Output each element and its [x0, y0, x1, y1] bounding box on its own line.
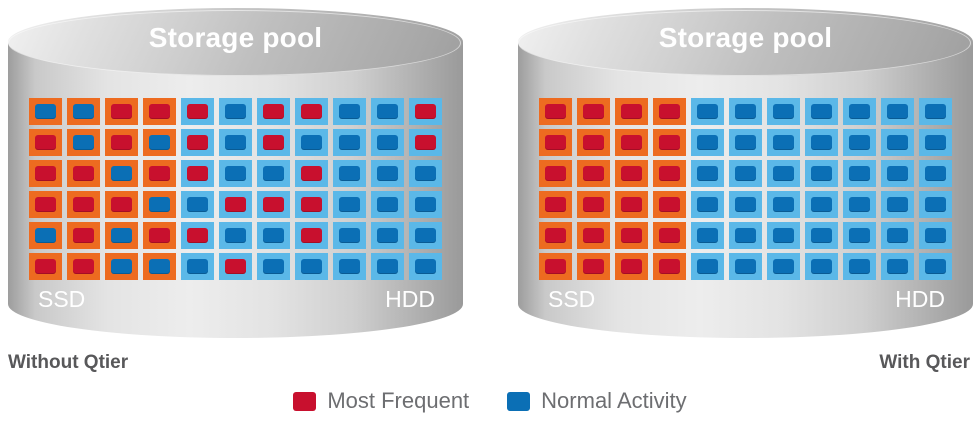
grid-cell-ssd	[653, 98, 686, 125]
grid-cell-hdd	[881, 129, 914, 156]
grid-cell-hdd	[767, 160, 800, 187]
caption-with-qtier: With Qtier	[879, 352, 970, 374]
grid-cell-hdd	[181, 98, 214, 125]
grid-cell-hdd	[219, 98, 252, 125]
data-block-hot	[35, 135, 56, 150]
data-block-hot	[583, 166, 604, 181]
data-block-warm	[849, 259, 870, 274]
caption-without-qtier: Without Qtier	[8, 352, 128, 374]
data-block-warm	[301, 135, 322, 150]
grid-cell-hdd	[919, 160, 952, 187]
tier-label-ssd: SSD	[548, 286, 595, 313]
data-block-warm	[339, 259, 360, 274]
data-block-hot	[659, 259, 680, 274]
data-block-warm	[773, 166, 794, 181]
data-block-warm	[887, 166, 908, 181]
grid-cell-hdd	[919, 129, 952, 156]
grid-cell-ssd	[539, 222, 572, 249]
grid-cell-hdd	[919, 222, 952, 249]
tier-label-hdd: HDD	[895, 286, 945, 313]
grid-cell-hdd	[219, 253, 252, 280]
grid-cell-ssd	[105, 222, 138, 249]
grid-cell-hdd	[333, 160, 366, 187]
grid-cell-hdd	[843, 98, 876, 125]
grid-cell-ssd	[105, 253, 138, 280]
data-block-warm	[773, 104, 794, 119]
data-block-warm	[849, 135, 870, 150]
grid-cell-hdd	[767, 98, 800, 125]
grid-cell-hdd	[219, 191, 252, 218]
data-block-warm	[149, 197, 170, 212]
grid-cell-hdd	[409, 129, 442, 156]
data-block-warm	[887, 228, 908, 243]
grid-cell-hdd	[691, 129, 724, 156]
data-block-warm	[773, 228, 794, 243]
data-block-hot	[545, 104, 566, 119]
block-grid-without-qtier	[29, 98, 442, 280]
data-block-warm	[377, 135, 398, 150]
grid-cell-hdd	[181, 129, 214, 156]
data-block-warm	[35, 228, 56, 243]
grid-cell-ssd	[539, 160, 572, 187]
data-block-warm	[697, 259, 718, 274]
grid-cell-hdd	[691, 222, 724, 249]
data-block-warm	[339, 166, 360, 181]
data-block-warm	[811, 259, 832, 274]
grid-cell-hdd	[295, 98, 328, 125]
data-block-hot	[415, 135, 436, 150]
data-block-warm	[849, 228, 870, 243]
grid-cell-ssd	[577, 160, 610, 187]
grid-cell-hdd	[691, 191, 724, 218]
grid-cell-ssd	[615, 98, 648, 125]
grid-cell-hdd	[729, 98, 762, 125]
data-block-warm	[73, 104, 94, 119]
grid-cell-hdd	[805, 129, 838, 156]
grid-cell-ssd	[29, 160, 62, 187]
grid-cell-hdd	[805, 191, 838, 218]
grid-cell-ssd	[105, 129, 138, 156]
grid-cell-ssd	[615, 129, 648, 156]
data-block-hot	[149, 228, 170, 243]
grid-cell-hdd	[219, 160, 252, 187]
grid-cell-ssd	[143, 129, 176, 156]
grid-cell-hdd	[805, 160, 838, 187]
data-block-warm	[925, 135, 946, 150]
grid-cell-hdd	[881, 253, 914, 280]
grid-cell-hdd	[767, 253, 800, 280]
data-block-hot	[621, 135, 642, 150]
data-block-warm	[811, 197, 832, 212]
storage-pool-without-qtier: Storage pool SSD HDD	[8, 8, 463, 338]
grid-cell-ssd	[653, 160, 686, 187]
grid-cell-ssd	[577, 222, 610, 249]
data-block-warm	[811, 135, 832, 150]
grid-cell-ssd	[29, 222, 62, 249]
grid-cell-hdd	[767, 222, 800, 249]
data-block-warm	[415, 197, 436, 212]
data-block-hot	[187, 166, 208, 181]
grid-cell-hdd	[881, 222, 914, 249]
data-block-warm	[887, 259, 908, 274]
pool-title: Storage pool	[8, 22, 463, 54]
data-block-warm	[773, 135, 794, 150]
legend: Most FrequentNormal Activity	[0, 388, 980, 414]
tier-label-hdd: HDD	[385, 286, 435, 313]
data-block-warm	[339, 228, 360, 243]
grid-cell-ssd	[653, 191, 686, 218]
grid-cell-ssd	[577, 191, 610, 218]
grid-cell-ssd	[539, 191, 572, 218]
data-block-hot	[187, 228, 208, 243]
grid-cell-hdd	[219, 129, 252, 156]
grid-cell-hdd	[333, 98, 366, 125]
data-block-warm	[149, 259, 170, 274]
grid-cell-ssd	[29, 98, 62, 125]
grid-cell-hdd	[371, 129, 404, 156]
data-block-warm	[377, 259, 398, 274]
legend-swatch-hot-icon	[293, 392, 316, 411]
grid-cell-hdd	[729, 253, 762, 280]
data-block-hot	[545, 228, 566, 243]
data-block-warm	[149, 135, 170, 150]
grid-cell-hdd	[881, 160, 914, 187]
grid-cell-hdd	[919, 191, 952, 218]
grid-cell-hdd	[881, 191, 914, 218]
legend-item-warm: Normal Activity	[507, 388, 686, 414]
data-block-hot	[73, 259, 94, 274]
data-block-hot	[301, 104, 322, 119]
grid-cell-hdd	[371, 253, 404, 280]
grid-cell-ssd	[67, 253, 100, 280]
data-block-warm	[377, 104, 398, 119]
data-block-hot	[225, 197, 246, 212]
grid-cell-hdd	[843, 253, 876, 280]
data-block-warm	[773, 259, 794, 274]
data-block-hot	[415, 104, 436, 119]
data-block-warm	[697, 135, 718, 150]
grid-cell-hdd	[805, 222, 838, 249]
grid-cell-hdd	[691, 160, 724, 187]
data-block-warm	[339, 135, 360, 150]
data-block-hot	[583, 135, 604, 150]
data-block-hot	[111, 135, 132, 150]
grid-cell-hdd	[181, 253, 214, 280]
grid-cell-ssd	[143, 98, 176, 125]
data-block-hot	[301, 166, 322, 181]
data-block-warm	[225, 166, 246, 181]
grid-cell-ssd	[29, 253, 62, 280]
grid-cell-hdd	[409, 98, 442, 125]
grid-cell-hdd	[843, 191, 876, 218]
grid-cell-ssd	[67, 222, 100, 249]
grid-cell-ssd	[615, 191, 648, 218]
data-block-hot	[659, 104, 680, 119]
data-block-warm	[225, 104, 246, 119]
data-block-warm	[925, 197, 946, 212]
grid-cell-ssd	[105, 160, 138, 187]
data-block-hot	[621, 228, 642, 243]
data-block-warm	[377, 228, 398, 243]
grid-cell-hdd	[181, 160, 214, 187]
grid-cell-ssd	[143, 253, 176, 280]
grid-cell-hdd	[257, 160, 290, 187]
storage-pool-with-qtier: Storage pool SSD HDD	[518, 8, 973, 338]
legend-item-hot: Most Frequent	[293, 388, 469, 414]
grid-cell-ssd	[539, 98, 572, 125]
data-block-warm	[849, 197, 870, 212]
data-block-warm	[415, 259, 436, 274]
grid-cell-hdd	[219, 222, 252, 249]
grid-cell-hdd	[371, 191, 404, 218]
data-block-warm	[887, 104, 908, 119]
grid-cell-hdd	[805, 98, 838, 125]
grid-cell-hdd	[371, 222, 404, 249]
data-block-warm	[263, 228, 284, 243]
grid-cell-hdd	[257, 191, 290, 218]
data-block-hot	[545, 197, 566, 212]
data-block-warm	[35, 104, 56, 119]
grid-cell-hdd	[767, 191, 800, 218]
grid-cell-hdd	[295, 253, 328, 280]
grid-cell-ssd	[615, 160, 648, 187]
grid-cell-hdd	[881, 98, 914, 125]
grid-cell-ssd	[143, 160, 176, 187]
grid-cell-hdd	[691, 253, 724, 280]
grid-cell-hdd	[729, 222, 762, 249]
data-block-warm	[735, 166, 756, 181]
data-block-warm	[225, 135, 246, 150]
grid-cell-hdd	[333, 129, 366, 156]
data-block-warm	[301, 259, 322, 274]
grid-cell-ssd	[29, 129, 62, 156]
legend-label: Normal Activity	[541, 388, 686, 414]
data-block-hot	[659, 228, 680, 243]
data-block-hot	[621, 104, 642, 119]
data-block-hot	[73, 166, 94, 181]
data-block-warm	[925, 166, 946, 181]
data-block-warm	[187, 197, 208, 212]
grid-cell-hdd	[409, 191, 442, 218]
grid-cell-hdd	[843, 160, 876, 187]
data-block-warm	[849, 166, 870, 181]
data-block-warm	[811, 104, 832, 119]
data-block-hot	[545, 135, 566, 150]
grid-cell-ssd	[143, 222, 176, 249]
data-block-warm	[697, 228, 718, 243]
grid-cell-hdd	[257, 253, 290, 280]
data-block-warm	[111, 166, 132, 181]
data-block-warm	[925, 104, 946, 119]
data-block-warm	[415, 228, 436, 243]
grid-cell-hdd	[691, 98, 724, 125]
grid-cell-hdd	[295, 160, 328, 187]
data-block-warm	[339, 197, 360, 212]
grid-cell-hdd	[257, 98, 290, 125]
grid-cell-hdd	[919, 98, 952, 125]
data-block-warm	[697, 104, 718, 119]
data-block-hot	[621, 259, 642, 274]
data-block-hot	[301, 197, 322, 212]
grid-cell-ssd	[615, 253, 648, 280]
data-block-hot	[149, 104, 170, 119]
grid-cell-ssd	[577, 98, 610, 125]
data-block-hot	[659, 166, 680, 181]
grid-cell-hdd	[729, 129, 762, 156]
data-block-warm	[377, 166, 398, 181]
grid-cell-ssd	[105, 98, 138, 125]
grid-cell-ssd	[143, 191, 176, 218]
pool-title: Storage pool	[518, 22, 973, 54]
grid-cell-hdd	[371, 160, 404, 187]
data-block-warm	[415, 166, 436, 181]
grid-cell-hdd	[409, 253, 442, 280]
grid-cell-ssd	[653, 129, 686, 156]
grid-cell-hdd	[371, 98, 404, 125]
data-block-hot	[621, 197, 642, 212]
grid-cell-ssd	[67, 129, 100, 156]
grid-cell-hdd	[333, 191, 366, 218]
data-block-hot	[301, 228, 322, 243]
grid-cell-hdd	[767, 129, 800, 156]
grid-cell-hdd	[181, 191, 214, 218]
grid-cell-hdd	[409, 222, 442, 249]
data-block-hot	[583, 259, 604, 274]
data-block-warm	[925, 259, 946, 274]
grid-cell-hdd	[333, 222, 366, 249]
data-block-warm	[339, 104, 360, 119]
grid-cell-hdd	[843, 222, 876, 249]
data-block-hot	[545, 259, 566, 274]
data-block-warm	[735, 135, 756, 150]
grid-cell-hdd	[409, 160, 442, 187]
diagram-canvas: Storage pool SSD HDD Without Qtier Stora…	[0, 0, 980, 428]
grid-cell-ssd	[67, 191, 100, 218]
data-block-warm	[811, 228, 832, 243]
grid-cell-hdd	[295, 191, 328, 218]
data-block-hot	[263, 197, 284, 212]
data-block-hot	[263, 135, 284, 150]
data-block-warm	[735, 197, 756, 212]
data-block-hot	[73, 197, 94, 212]
data-block-hot	[659, 135, 680, 150]
grid-cell-ssd	[653, 222, 686, 249]
grid-cell-hdd	[257, 222, 290, 249]
data-block-hot	[187, 104, 208, 119]
data-block-hot	[583, 197, 604, 212]
data-block-hot	[583, 228, 604, 243]
data-block-warm	[697, 166, 718, 181]
grid-cell-ssd	[577, 129, 610, 156]
data-block-warm	[887, 135, 908, 150]
legend-swatch-warm-icon	[507, 392, 530, 411]
data-block-warm	[263, 259, 284, 274]
data-block-hot	[187, 135, 208, 150]
data-block-warm	[887, 197, 908, 212]
grid-cell-hdd	[919, 253, 952, 280]
tier-label-ssd: SSD	[38, 286, 85, 313]
grid-cell-ssd	[105, 191, 138, 218]
data-block-warm	[263, 166, 284, 181]
grid-cell-hdd	[843, 129, 876, 156]
data-block-hot	[545, 166, 566, 181]
grid-cell-hdd	[729, 160, 762, 187]
data-block-hot	[149, 166, 170, 181]
grid-cell-hdd	[333, 253, 366, 280]
data-block-hot	[583, 104, 604, 119]
data-block-warm	[773, 197, 794, 212]
grid-cell-hdd	[295, 129, 328, 156]
grid-cell-ssd	[67, 98, 100, 125]
data-block-hot	[659, 197, 680, 212]
data-block-warm	[811, 166, 832, 181]
data-block-hot	[73, 228, 94, 243]
block-grid-with-qtier	[539, 98, 952, 280]
grid-cell-ssd	[615, 222, 648, 249]
grid-cell-ssd	[67, 160, 100, 187]
data-block-hot	[111, 104, 132, 119]
data-block-warm	[377, 197, 398, 212]
data-block-hot	[35, 197, 56, 212]
data-block-warm	[849, 104, 870, 119]
data-block-warm	[925, 228, 946, 243]
data-block-hot	[35, 259, 56, 274]
data-block-warm	[187, 259, 208, 274]
grid-cell-hdd	[295, 222, 328, 249]
data-block-warm	[735, 259, 756, 274]
grid-cell-hdd	[181, 222, 214, 249]
grid-cell-ssd	[539, 129, 572, 156]
data-block-warm	[225, 228, 246, 243]
data-block-warm	[111, 259, 132, 274]
data-block-hot	[35, 166, 56, 181]
data-block-hot	[263, 104, 284, 119]
legend-label: Most Frequent	[327, 388, 469, 414]
grid-cell-ssd	[539, 253, 572, 280]
grid-cell-hdd	[805, 253, 838, 280]
grid-cell-hdd	[729, 191, 762, 218]
data-block-hot	[621, 166, 642, 181]
data-block-warm	[697, 197, 718, 212]
data-block-warm	[735, 104, 756, 119]
grid-cell-ssd	[29, 191, 62, 218]
data-block-hot	[225, 259, 246, 274]
data-block-warm	[73, 135, 94, 150]
grid-cell-hdd	[257, 129, 290, 156]
grid-cell-ssd	[653, 253, 686, 280]
data-block-warm	[111, 228, 132, 243]
data-block-hot	[111, 197, 132, 212]
grid-cell-ssd	[577, 253, 610, 280]
data-block-warm	[735, 228, 756, 243]
